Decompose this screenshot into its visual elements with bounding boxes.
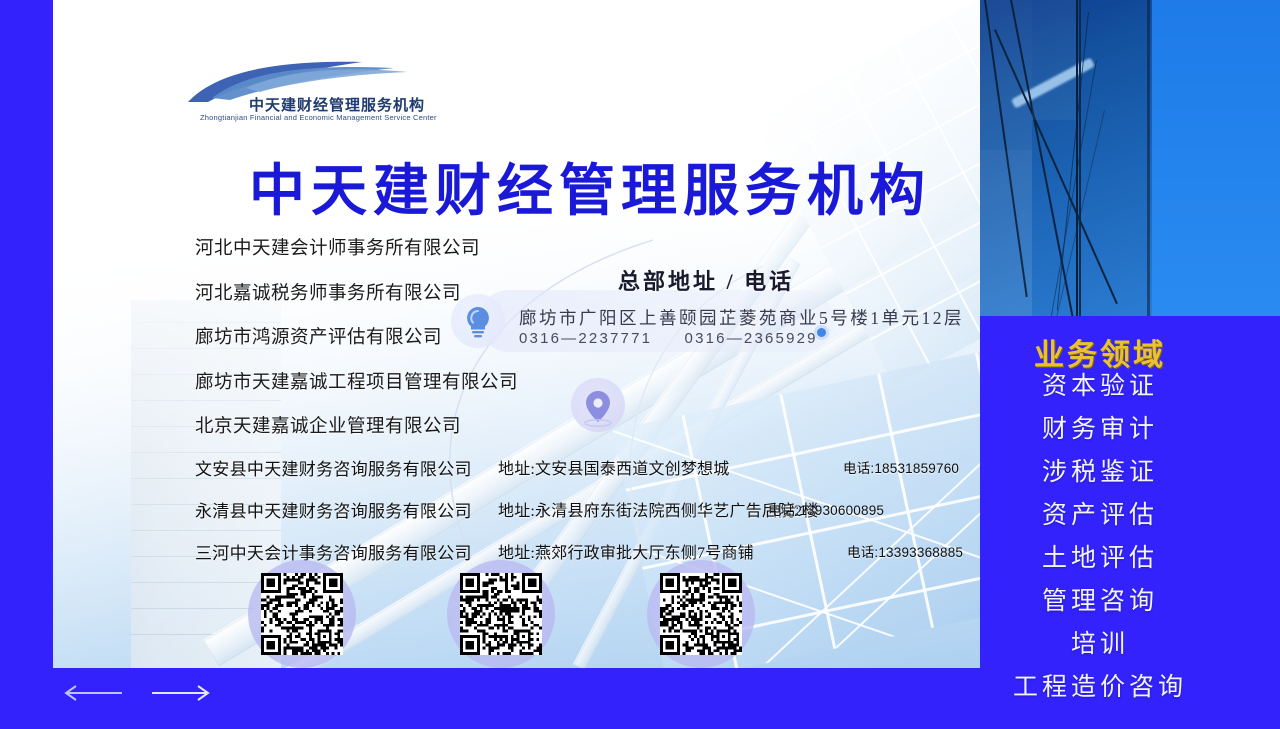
slide-root: 业务领域 资本验证 财务审计 涉税鉴证 资产评估 土地评估 管理咨询 培训 工程…: [0, 0, 1280, 729]
hq-phones: 0316—2237771 0316—2365929: [519, 330, 844, 347]
branch-name: 文安县中天建财务咨询服务有限公司: [195, 455, 472, 480]
services-list: 资本验证 财务审计 涉税鉴证 资产评估 土地评估 管理咨询 培训 工程造价咨询: [980, 374, 1220, 718]
service-item[interactable]: 财务审计: [980, 417, 1220, 442]
logo-english-name: Zhongtianjian Financial and Economic Man…: [200, 113, 437, 122]
qr-code-icon[interactable]: [660, 573, 742, 655]
company-logo: 中天建财经管理服务机构 Zhongtianjian Financial and …: [186, 58, 436, 130]
qr-item-wechat[interactable]: 公众号: [232, 560, 372, 655]
service-item[interactable]: 资本验证: [980, 374, 1220, 399]
hq-phone: 0316—2237771: [519, 330, 652, 347]
services-sidebar: 业务领域 资本验证 财务审计 涉税鉴证 资产评估 土地评估 管理咨询 培训 工程…: [980, 316, 1280, 729]
service-item[interactable]: 资产评估: [980, 503, 1220, 528]
hq-heading: 总部地址 / 电话: [618, 264, 794, 296]
hq-address: 廊坊市广阳区上善颐园芷菱苑商业5号楼1单元12层: [519, 305, 964, 330]
firm-name: 廊坊市鸿源资产评估有限公司: [195, 329, 535, 348]
hq-phone: 0316—2365929: [685, 330, 818, 347]
branch-phone: 电话:18531859760: [843, 457, 959, 477]
service-item[interactable]: 培训: [980, 632, 1220, 657]
firm-name: 河北中天建会计师事务所有限公司: [195, 240, 535, 259]
service-item[interactable]: 工程造价咨询: [980, 675, 1220, 700]
firm-name: 廊坊市天建嘉诚工程项目管理有限公司: [195, 374, 535, 393]
service-item[interactable]: 涉税鉴证: [980, 460, 1220, 485]
services-title: 业务领域: [980, 330, 1220, 374]
qr-code-row: 公众号 邮箱 网站: [53, 560, 980, 668]
page-title: 中天建财经管理服务机构: [249, 146, 931, 227]
qr-item-website[interactable]: 网站: [631, 560, 771, 655]
affiliated-firms-list: 河北中天建会计师事务所有限公司 河北嘉诚税务师事务所有限公司 廊坊市鸿源资产评估…: [195, 240, 535, 463]
branch-phone: 电话:13930600895: [768, 499, 884, 519]
firm-name: 北京天建嘉诚企业管理有限公司: [195, 418, 535, 437]
branch-name: 永清县中天建财务咨询服务有限公司: [195, 497, 472, 522]
qr-code-icon[interactable]: [261, 573, 343, 655]
map-dot-marker: [817, 328, 826, 337]
branch-phone: 电话:13393368885: [847, 541, 963, 561]
branch-row: 永清县中天建财务咨询服务有限公司 地址:永清县府东街法院西侧华艺广告后院2楼 电…: [195, 497, 980, 539]
branch-row: 文安县中天建财务咨询服务有限公司 地址:文安县国泰西道文创梦想城 电话:1853…: [195, 455, 980, 497]
firm-name: 河北嘉诚税务师事务所有限公司: [195, 285, 535, 304]
arrow-left-icon[interactable]: [62, 684, 124, 702]
service-item[interactable]: 土地评估: [980, 546, 1220, 571]
service-item[interactable]: 管理咨询: [980, 589, 1220, 614]
building-photo: [980, 0, 1152, 316]
location-pin-icon: [571, 378, 625, 432]
footer-nav-bar: [0, 668, 212, 729]
qr-item-email[interactable]: 邮箱: [431, 560, 571, 655]
qr-code-icon[interactable]: [460, 573, 542, 655]
content-card: 中天建财经管理服务机构 Zhongtianjian Financial and …: [53, 0, 980, 668]
logo-chinese-name: 中天建财经管理服务机构: [249, 94, 425, 115]
arrow-right-icon[interactable]: [150, 684, 212, 702]
branch-address: 地址:文安县国泰西道文创梦想城: [498, 455, 729, 479]
